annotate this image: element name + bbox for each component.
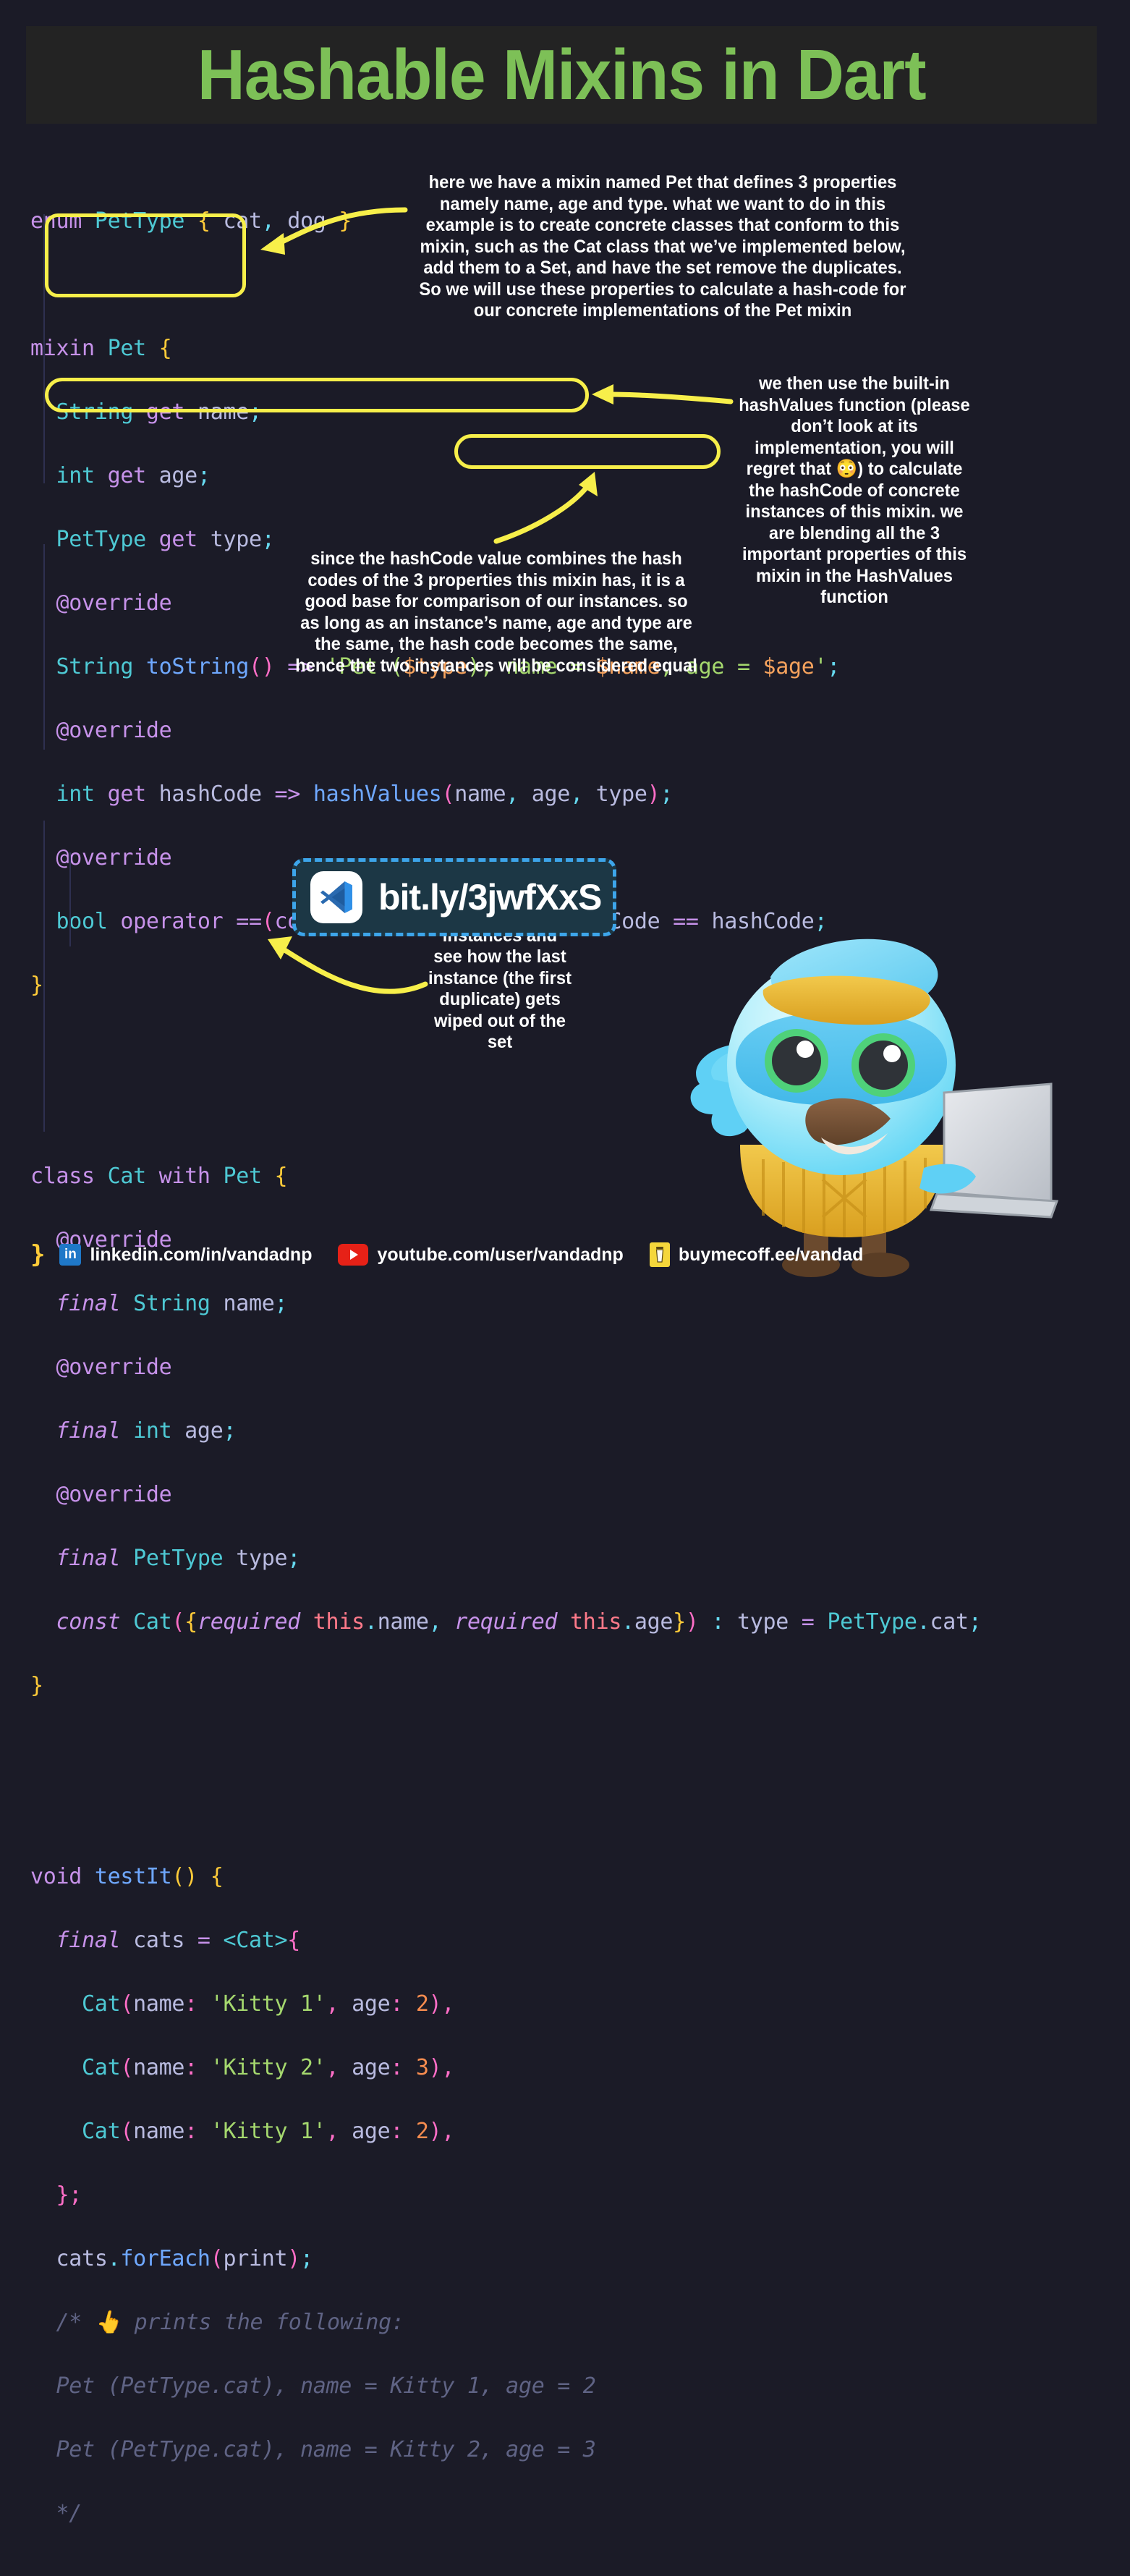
footer-link-youtube[interactable]: youtube.com/user/vandadnp — [338, 1244, 623, 1266]
code-line: } — [30, 1670, 982, 1702]
footer-link-linkedin-text: linkedin.com/in/vandadnp — [90, 1245, 312, 1266]
footer-closing-brace: } — [30, 1240, 45, 1269]
code-line: final String name; — [30, 1288, 982, 1320]
bitly-badge[interactable]: bit.ly/3jwfXxS — [292, 858, 616, 936]
annotation-mixin-properties: here we have a mixin named Pet that defi… — [415, 172, 910, 322]
code-line: final cats = <Cat>{ — [30, 1925, 982, 1957]
code-line: /* 👆 prints the following: — [30, 2307, 982, 2339]
indent-guide — [43, 214, 45, 483]
code-line: mixin Pet { — [30, 333, 982, 365]
code-line: int get hashCode => hashValues(name, age… — [30, 779, 982, 810]
indent-guide — [69, 852, 71, 946]
code-line: }; — [30, 2179, 982, 2211]
title-banner: Hashable Mixins in Dart — [26, 26, 1097, 124]
indent-guide — [43, 821, 45, 1132]
footer-link-buymecoffee[interactable]: buymecoff.ee/vandad — [650, 1242, 864, 1267]
vscode-icon — [310, 871, 362, 923]
code-line: @override — [30, 1479, 982, 1511]
indent-guide — [43, 544, 45, 750]
code-line: final PetType type; — [30, 1543, 982, 1575]
annotation-equality: since the hashCode value combines the ha… — [294, 548, 699, 677]
bitly-url: bit.ly/3jwfXxS — [378, 876, 601, 918]
code-line: const Cat({required this.name, required … — [30, 1606, 982, 1638]
code-line: Pet (PetType.cat), name = Kitty 1, age =… — [30, 2370, 982, 2402]
footer-link-buymecoffee-text: buymecoff.ee/vandad — [679, 1245, 864, 1266]
code-line: void testIt() { — [30, 1861, 982, 1893]
coffee-icon — [650, 1242, 670, 1267]
code-line: final int age; — [30, 1415, 982, 1447]
bird-mascot — [655, 876, 1060, 1281]
code-line: Pet (PetType.cat), name = Kitty 2, age =… — [30, 2434, 982, 2466]
code-line: Cat(name: 'Kitty 1', age: 2), — [30, 2116, 982, 2148]
youtube-icon — [338, 1244, 368, 1266]
code-line: cats.forEach(print); — [30, 2243, 982, 2275]
code-line: @override — [30, 1352, 982, 1384]
code-line: Cat(name: 'Kitty 1', age: 2), — [30, 1988, 982, 2020]
page-title: Hashable Mixins in Dart — [197, 34, 926, 116]
linkedin-icon: in — [59, 1244, 81, 1266]
annotation-hash-values: we then use the built-in hashValues func… — [737, 373, 972, 609]
code-line: */ — [30, 2498, 982, 2530]
footer-link-youtube-text: youtube.com/user/vandadnp — [377, 1245, 623, 1266]
code-line: @override — [30, 715, 982, 747]
footer-link-linkedin[interactable]: in linkedin.com/in/vandadnp — [59, 1244, 312, 1266]
code-line: Cat(name: 'Kitty 2', age: 3), — [30, 2052, 982, 2084]
footer: } in linkedin.com/in/vandadnp youtube.co… — [30, 1240, 879, 1269]
